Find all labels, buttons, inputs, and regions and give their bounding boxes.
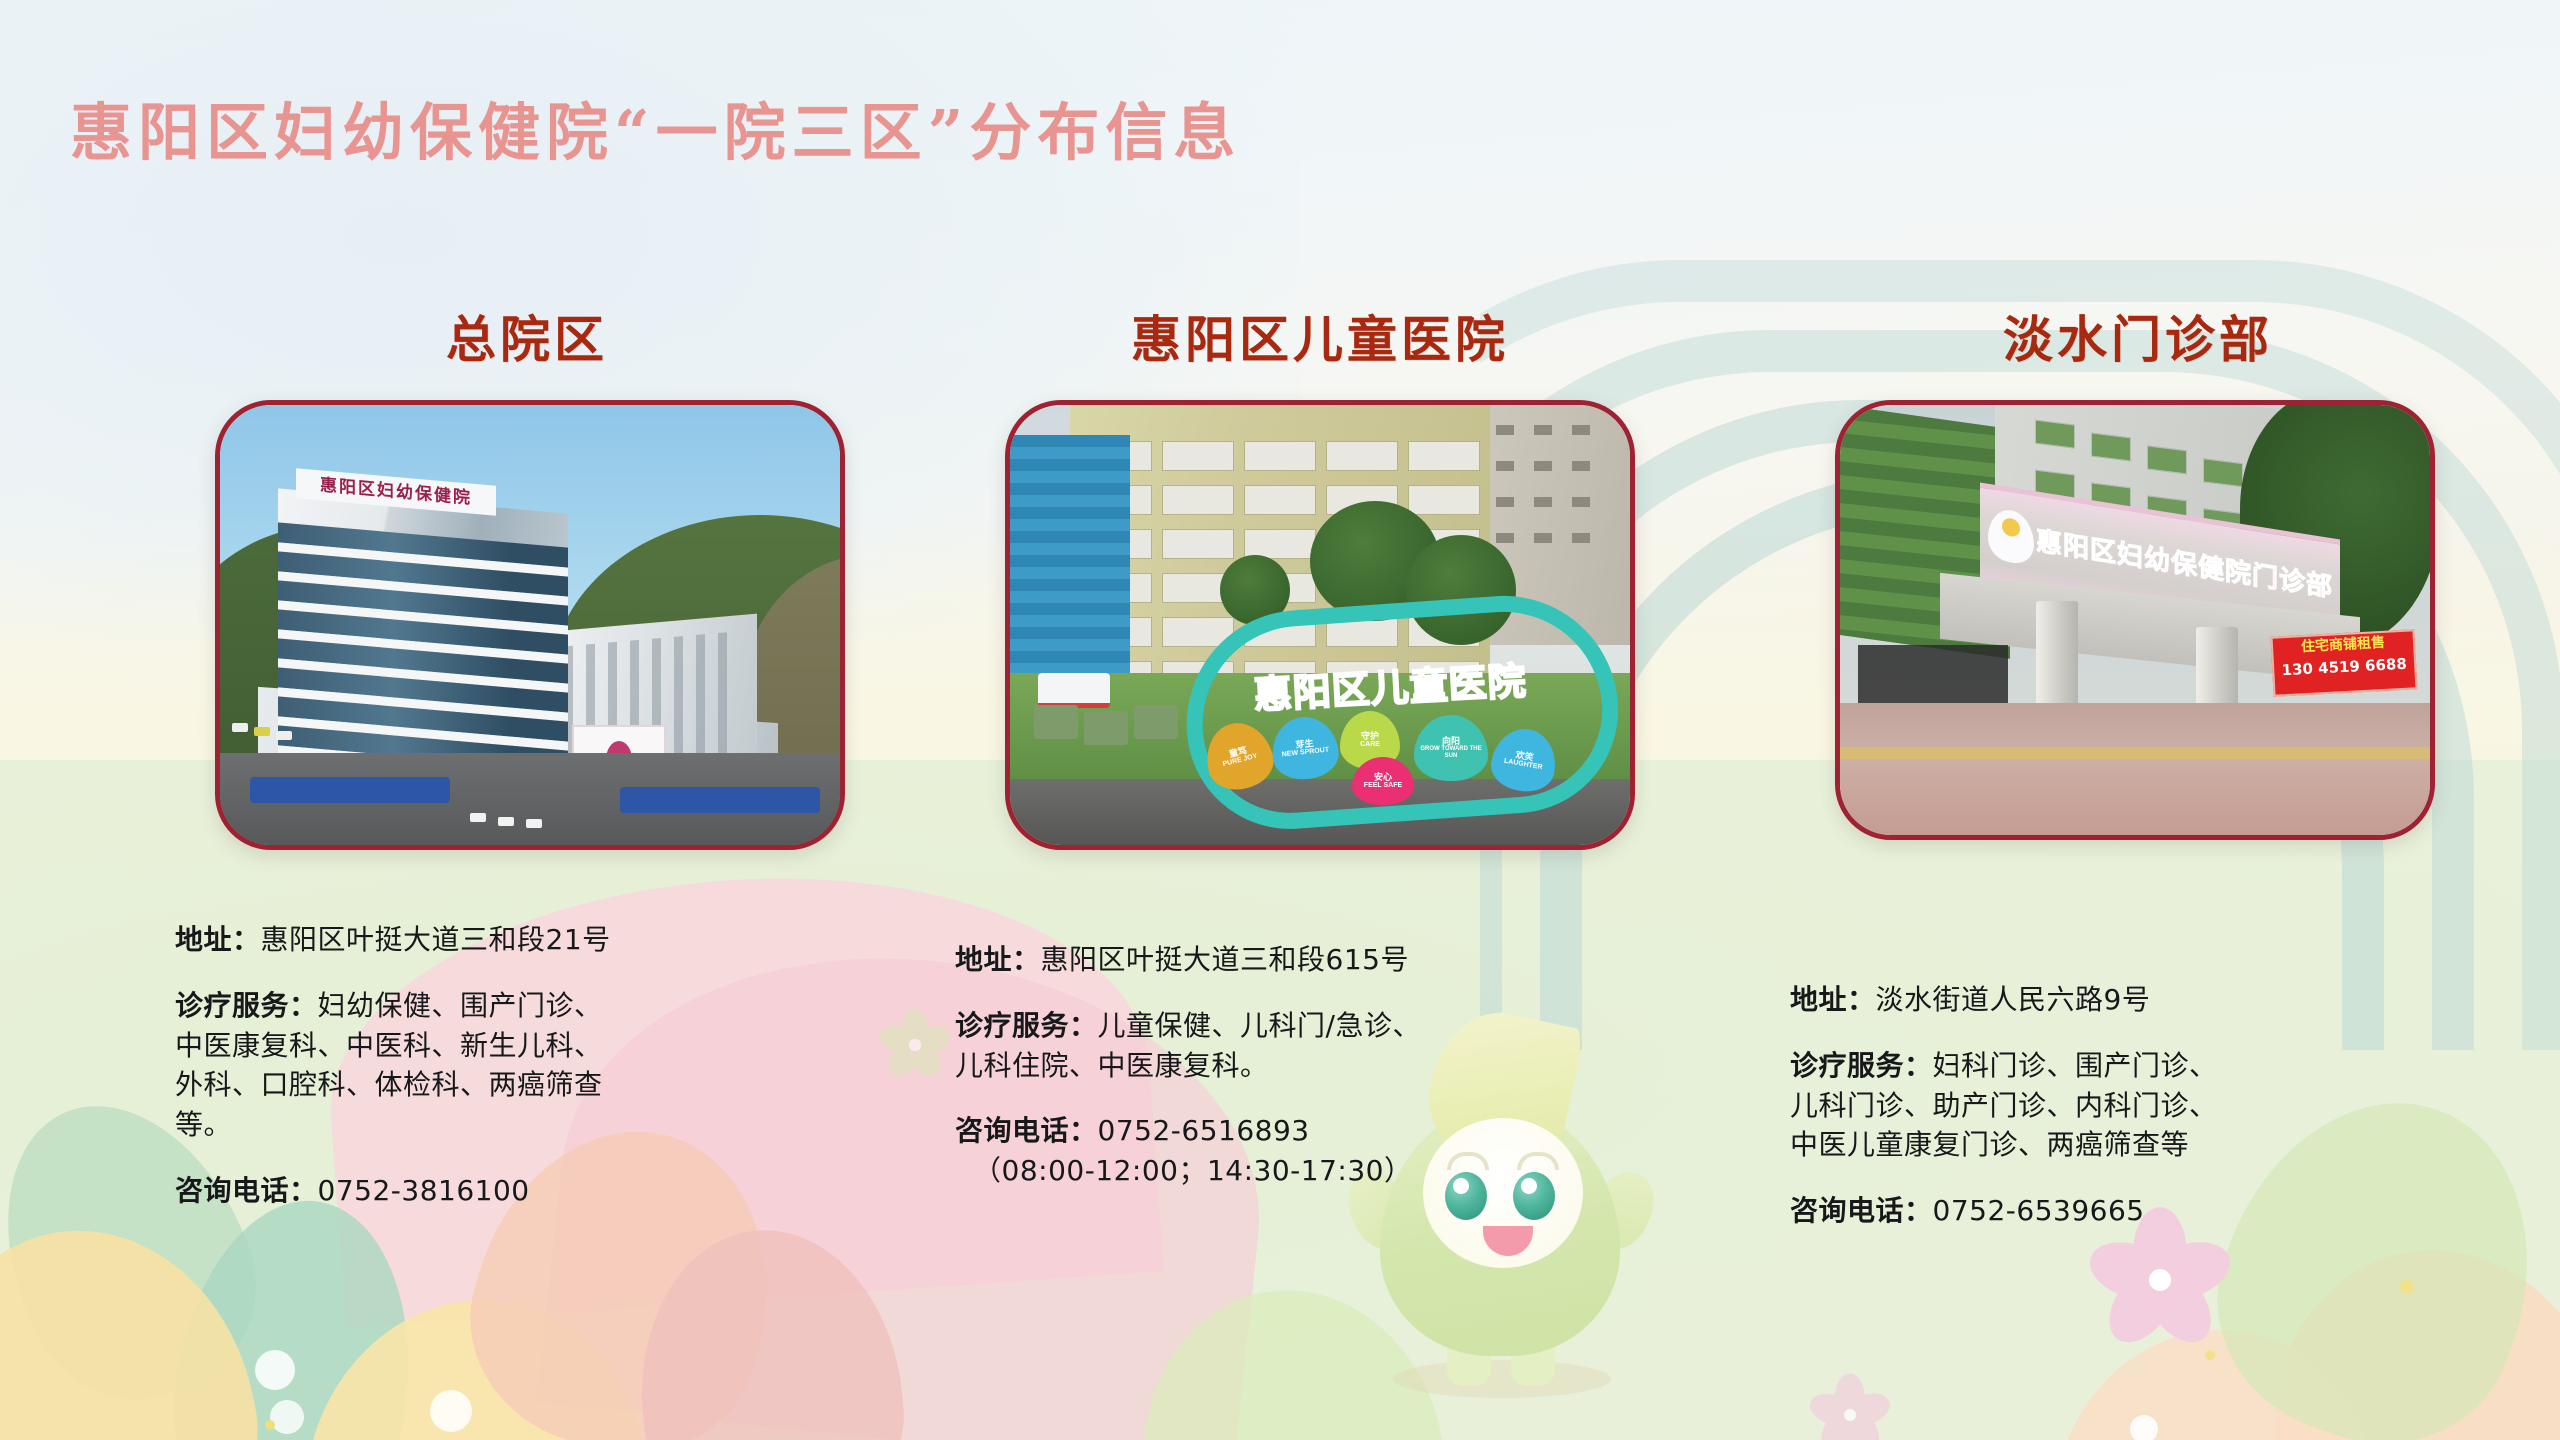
address-label: 地址： [955, 943, 1041, 976]
ambulance-in-photo [1038, 673, 1110, 708]
phone-value: 0752-3816100 [318, 1174, 530, 1207]
campus-heading-danshui: 淡水门诊部 [1746, 300, 2530, 372]
photo-danshui-outpatient: 惠阳区妇幼保健院门诊部 住宅商铺租售 130 4519 6688 [1835, 400, 2435, 840]
photo-banner-shop-rent: 住宅商铺租售 130 4519 6688 [2271, 629, 2418, 696]
phone-hours: （08:00-12:00；14:30-17:30） [955, 1151, 1695, 1191]
dove-logo-icon [1988, 507, 2034, 566]
phone-label: 咨询电话： [1790, 1194, 1933, 1227]
services-value-line3: 中医儿童康复门诊、两癌筛查等 [1790, 1125, 2550, 1165]
services-value-line1: 妇幼保健、围产门诊、 [318, 989, 603, 1022]
phone-row-children: 咨询电话：0752-6516893 （08:00-12:00；14:30-17:… [955, 1111, 1695, 1191]
address-label: 地址： [1790, 983, 1876, 1016]
address-row-danshui: 地址：淡水街道人民六路9号 [1790, 980, 2550, 1020]
phone-label: 咨询电话： [175, 1174, 318, 1207]
services-value-line4: 等。 [175, 1105, 915, 1145]
photo-main-hospital: 惠阳区妇幼保健院 [215, 400, 845, 850]
campus-heading-children: 惠阳区儿童医院 [930, 300, 1710, 372]
address-value: 惠阳区叶挺大道三和段615号 [1041, 943, 1409, 976]
campus-column-danshui: 淡水门诊部 惠阳区妇幼保健院门诊部 [1740, 300, 2530, 840]
address-label: 地址： [175, 923, 261, 956]
services-value-line2: 儿科门诊、助产门诊、内科门诊、 [1790, 1086, 2550, 1126]
phone-value: 0752-6516893 [1098, 1114, 1310, 1147]
services-row-main: 诊疗服务：妇幼保健、围产门诊、 中医康复科、中医科、新生儿科、 外科、口腔科、体… [175, 986, 915, 1145]
campus-heading-main: 总院区 [144, 300, 910, 372]
address-value: 惠阳区叶挺大道三和段21号 [261, 923, 611, 956]
services-label: 诊疗服务： [175, 989, 318, 1022]
services-label: 诊疗服务： [1790, 1049, 1933, 1082]
services-label: 诊疗服务： [955, 1009, 1098, 1042]
phone-row-main: 咨询电话：0752-3816100 [175, 1171, 915, 1211]
poster-canvas: 惠阳区妇幼保健院“一院三区”分布信息 总院区 [0, 0, 2560, 1440]
phone-label: 咨询电话： [955, 1114, 1098, 1147]
photo-children-hospital: 惠阳区儿童医院 童笃 PURE JOY 芽生 NEW SPROUT 守护 CAR… [1005, 400, 1635, 850]
campus-info-danshui: 地址：淡水街道人民六路9号 诊疗服务：妇科门诊、围产门诊、 儿科门诊、助产门诊、… [1790, 980, 2550, 1231]
address-value: 淡水街道人民六路9号 [1876, 983, 2151, 1016]
phone-value: 0752-6539665 [1933, 1194, 2145, 1227]
campus-info-main: 地址：惠阳区叶挺大道三和段21号 诊疗服务：妇幼保健、围产门诊、 中医康复科、中… [175, 920, 915, 1211]
campus-column-main: 总院区 [150, 300, 910, 850]
services-value-line1: 妇科门诊、围产门诊、 [1933, 1049, 2218, 1082]
phone-row-danshui: 咨询电话：0752-6539665 [1790, 1191, 2550, 1231]
services-value-line2: 中医康复科、中医科、新生儿科、 [175, 1026, 915, 1066]
campus-info-children: 地址：惠阳区叶挺大道三和段615号 诊疗服务：儿童保健、儿科门/急诊、 儿科住院… [955, 940, 1695, 1191]
services-value-line1: 儿童保健、儿科门/急诊、 [1098, 1009, 1421, 1042]
campus-column-children: 惠阳区儿童医院 [930, 300, 1710, 850]
services-value-line2: 儿科住院、中医康复科。 [955, 1046, 1695, 1086]
services-value-line3: 外科、口腔科、体检科、两癌筛查 [175, 1065, 915, 1105]
services-row-children: 诊疗服务：儿童保健、儿科门/急诊、 儿科住院、中医康复科。 [955, 1006, 1695, 1086]
address-row-main: 地址：惠阳区叶挺大道三和段21号 [175, 920, 915, 960]
services-row-danshui: 诊疗服务：妇科门诊、围产门诊、 儿科门诊、助产门诊、内科门诊、 中医儿童康复门诊… [1790, 1046, 2550, 1165]
address-row-children: 地址：惠阳区叶挺大道三和段615号 [955, 940, 1695, 980]
